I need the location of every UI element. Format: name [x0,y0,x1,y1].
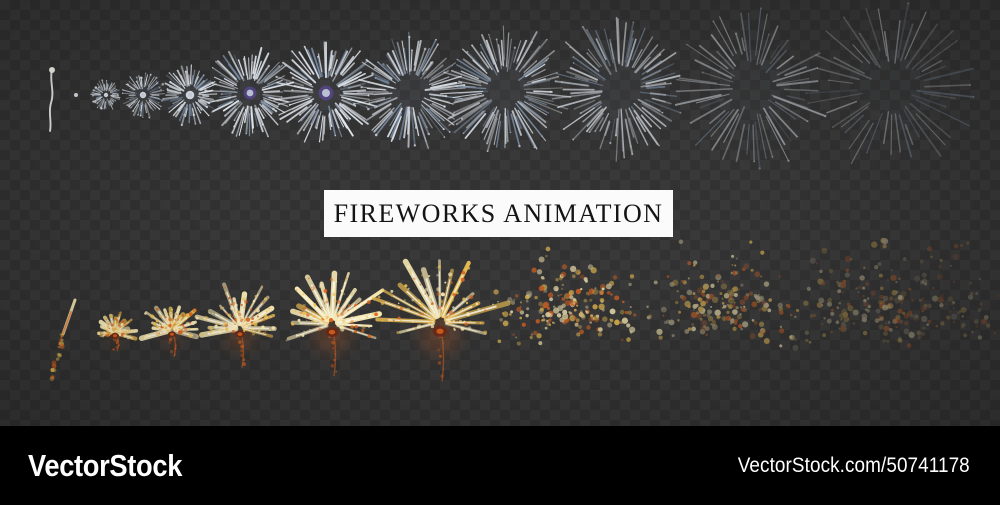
footer-bar: VectorStock VectorStock.com/50741178 [0,426,1000,505]
page-title: FIREWORKS ANIMATION [334,199,664,229]
vectorstock-logo: VectorStock [28,448,182,484]
fireworks-frame-burst-fade-2 [813,197,1000,448]
watermark-url: VectorStock.com/50741178 [738,454,970,478]
title-banner: FIREWORKS ANIMATION [324,190,673,237]
sprite-sheet-canvas: FIREWORKS ANIMATION VectorStock VectorSt… [0,0,1000,505]
fireworks-frame-burst-fade-2 [781,0,1000,199]
